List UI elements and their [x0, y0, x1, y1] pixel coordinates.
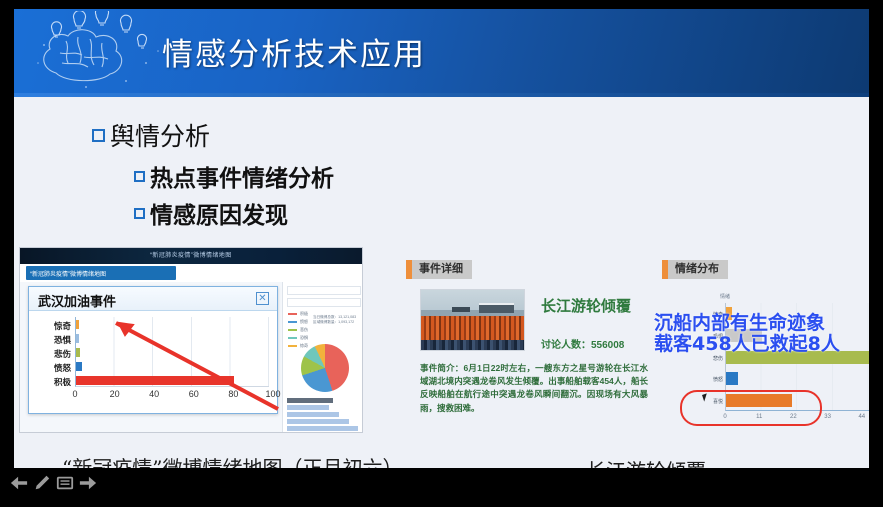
legend-item-惊奇: 惊奇: [288, 343, 308, 349]
bar-label-愤怒: 愤怒: [35, 362, 71, 374]
legend-label: 恐惧: [300, 335, 308, 341]
legend-label: 积极: [300, 311, 308, 317]
screenshot-window-bar: “新冠肺炎疫情”微博情绪地图: [20, 248, 363, 264]
brain-lightbulbs-icon: [26, 11, 166, 93]
photo-boat: [479, 303, 514, 313]
slide-toolbar: [10, 470, 120, 496]
next-arrow-icon[interactable]: [79, 474, 97, 492]
x-tick-20: 20: [110, 389, 120, 399]
bar-chart-plot-area: [75, 317, 269, 387]
emotion-x-tick-33: 33: [824, 414, 831, 420]
event-description: 事件简介：6月1日22时左右，一艘东方之星号游轮在长江水域湖北境内突遇龙卷风发生…: [420, 362, 648, 415]
bar-chart-x-axis: 020406080100: [71, 389, 273, 403]
x-tick-40: 40: [149, 389, 159, 399]
bullet-label: 舆情分析: [110, 117, 210, 153]
legend-item-愤怒: 愤怒: [288, 319, 308, 325]
slide-header-banner: 情感分析技术应用: [14, 9, 869, 93]
page-title: 情感分析技术应用: [162, 29, 426, 74]
wuhan-emotion-bar-chart: 惊奇恐惧悲伤愤怒积极 020406080100: [35, 315, 273, 411]
emotion-distribution-badge: 情绪分布: [662, 260, 728, 279]
bar-label-悲伤: 悲伤: [35, 348, 71, 360]
legend-label: 愤怒: [300, 319, 308, 325]
discussion-count: 讨论人数：556008: [541, 336, 631, 351]
photo-crowd-front-row: [421, 340, 524, 350]
bar-label-惊奇: 惊奇: [35, 320, 71, 332]
event-detail-panel: 事件详细 长江游轮倾覆 讨论人数：556008 事件简介：6月1日22时左右，一…: [406, 259, 656, 439]
bar-惊奇: [76, 320, 79, 329]
close-icon[interactable]: ✕: [256, 292, 269, 305]
x-tick-0: 0: [72, 389, 77, 399]
bar-label-积极: 积极: [35, 376, 71, 388]
pen-icon[interactable]: [33, 474, 51, 492]
emotion-x-tick-44: 44: [858, 414, 865, 420]
date-select[interactable]: [287, 298, 361, 307]
bullet-item-1: 热点事件情绪分析: [134, 159, 334, 193]
event-popup-dialog: 武汉加油事件 ✕ 惊奇恐惧悲伤愤怒积极 020406080100: [28, 286, 278, 414]
bar-积极: [76, 376, 234, 385]
pie-legend: 积极愤怒悲伤恐惧惊奇: [288, 311, 308, 351]
legend-label: 惊奇: [300, 343, 308, 349]
emotion-bar-愤怒: [726, 372, 738, 385]
legend-swatch-icon: [288, 321, 297, 323]
hot-events-title: [287, 398, 333, 403]
event-summary-row: 长江游轮倾覆 讨论人数：556008: [420, 289, 656, 351]
map-side-panel: 积极愤怒悲伤恐惧惊奇 当日微博总数：13,121,083 区域微博数量：1,09…: [282, 282, 363, 433]
event-photo: [420, 289, 525, 351]
presentation-slide: 情感分析技术应用 舆情分析 热点事件情绪分析 情感原因发现 “新冠肺炎疫情”微博…: [14, 9, 869, 468]
event-title: 长江游轮倾覆: [541, 295, 631, 316]
legend-swatch-icon: [288, 329, 297, 331]
bar-悲伤: [76, 348, 80, 357]
legend-swatch-icon: [288, 345, 297, 347]
blue-overlay-text: 沉船内部有生命迹象 载客458人已救起8人: [654, 313, 869, 356]
overlay-line-2: 载客458人已救起8人: [654, 334, 869, 355]
bullet-item-0: 舆情分析: [92, 117, 334, 153]
emotion-distribution-panel: 情绪分布 情绪 惊奇恐惧悲伤愤怒喜悦 01122334455 沉船内部有生命迹象…: [662, 259, 869, 439]
screenshot-body: 武汉加油事件 ✕ 惊奇恐惧悲伤愤怒积极 020406080100 积极愤怒悲伤恐…: [20, 282, 363, 433]
popup-title: 武汉加油事件: [38, 291, 116, 310]
emotion-axis-label: 情绪: [720, 293, 730, 300]
bar-label-恐惧: 恐惧: [35, 334, 71, 346]
caption-left: “新冠疫情”微博情绪地图（正月初六）: [62, 452, 402, 468]
screen: 情感分析技术应用 舆情分析 热点事件情绪分析 情感原因发现 “新冠肺炎疫情”微博…: [0, 0, 883, 507]
hot-event-link[interactable]: [287, 419, 349, 424]
legend-swatch-icon: [288, 313, 297, 315]
x-tick-60: 60: [189, 389, 199, 399]
stats-line-2: 区域微博数量：1,093,172: [313, 320, 354, 324]
overlay-line-1: 沉船内部有生命迹象: [654, 313, 869, 334]
legend-item-积极: 积极: [288, 311, 308, 317]
x-tick-80: 80: [228, 389, 238, 399]
header-underline: [14, 93, 869, 97]
bullet-list: 舆情分析 热点事件情绪分析 情感原因发现: [92, 117, 334, 233]
bullet-square-icon: [134, 171, 145, 182]
hot-event-link[interactable]: [287, 426, 358, 431]
bar-愤怒: [76, 362, 82, 371]
screenshot-tab[interactable]: “新冠肺炎疫情”微博情绪地图: [26, 266, 176, 280]
emotion-bar-label-悲伤: 悲伤: [702, 355, 723, 362]
screenshot-window-title: “新冠肺炎疫情”微博情绪地图: [150, 250, 232, 259]
emotion-bar-label-愤怒: 愤怒: [702, 376, 723, 383]
legend-label: 悲伤: [300, 327, 308, 333]
bullet-square-icon: [92, 129, 105, 142]
legend-item-恐惧: 恐惧: [288, 335, 308, 341]
bullet-item-2: 情感原因发现: [134, 196, 334, 230]
caption-right: 长江游轮倾覆: [586, 455, 706, 468]
bar-恐惧: [76, 334, 79, 343]
x-tick-100: 100: [265, 389, 280, 399]
stats-note: 当日微博总数：13,121,083 区域微博数量：1,093,172: [313, 315, 356, 326]
legend-swatch-icon: [288, 337, 297, 339]
hot-events-link-list[interactable]: [287, 398, 363, 433]
previous-arrow-icon[interactable]: [10, 474, 28, 492]
bullet-label: 情感原因发现: [150, 196, 288, 230]
hot-event-link[interactable]: [287, 412, 339, 417]
hot-event-link[interactable]: [287, 405, 329, 410]
bullet-square-icon: [134, 208, 145, 219]
event-meta: 长江游轮倾覆 讨论人数：556008: [541, 289, 631, 351]
menu-icon[interactable]: [56, 474, 74, 492]
emotion-pie-chart: [301, 344, 349, 392]
event-detail-badge: 事件详细: [406, 260, 472, 279]
stats-line-1: 当日微博总数：13,121,083: [313, 315, 356, 319]
screenshot-tab-label: “新冠肺炎疫情”微博情绪地图: [30, 269, 106, 278]
emotion-select[interactable]: [287, 286, 361, 295]
weibo-emotion-map-screenshot: “新冠肺炎疫情”微博情绪地图 “新冠肺炎疫情”微博情绪地图 武汉加油事件 ✕ 惊…: [19, 247, 363, 433]
bullet-label: 热点事件情绪分析: [150, 159, 334, 193]
legend-item-悲伤: 悲伤: [288, 327, 308, 333]
photo-boat-secondary: [452, 307, 471, 312]
